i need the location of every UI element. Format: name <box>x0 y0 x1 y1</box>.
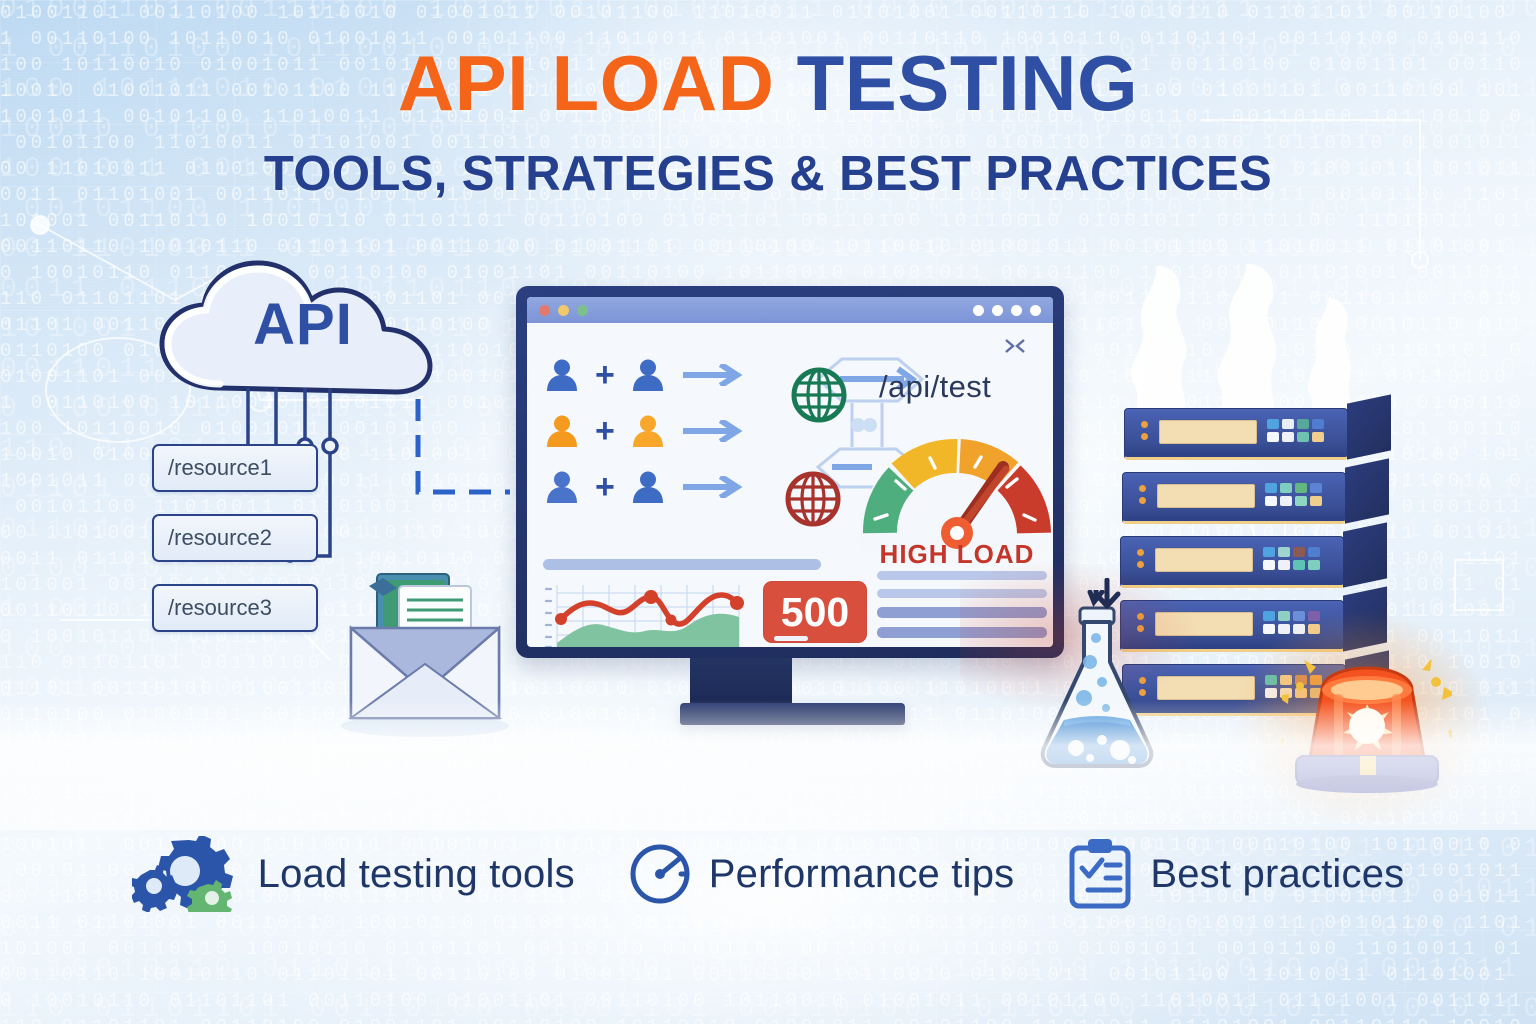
divider-bar <box>543 559 821 570</box>
user-icon <box>545 470 579 504</box>
server-label-plate <box>1155 548 1253 572</box>
monitor-screen: + + <box>527 297 1053 647</box>
log-lines-placeholder <box>877 571 1047 647</box>
window-titlebar <box>527 297 1053 323</box>
user-icon <box>631 414 665 448</box>
server-led-grid <box>1263 611 1320 634</box>
plus-icon: + <box>595 414 615 448</box>
virtual-user-row: + <box>545 403 745 459</box>
minimize-dot-icon[interactable] <box>558 305 569 316</box>
server-side-panel <box>1343 522 1387 587</box>
server-label-plate <box>1159 420 1257 444</box>
resource-item-1[interactable]: /resource1 <box>152 444 318 492</box>
server-led-grid <box>1265 483 1322 506</box>
indicator-dot-icon <box>1011 305 1022 316</box>
server-unit <box>1124 408 1348 460</box>
feature-label: Best practices <box>1150 852 1404 897</box>
globe-green-icon <box>791 367 847 423</box>
virtual-user-row: + <box>545 347 745 403</box>
feature-label: Performance tips <box>709 852 1015 897</box>
feature-item-performance-tips[interactable]: Performance tips <box>629 843 1015 905</box>
log-line <box>877 589 1047 598</box>
api-cloud: API <box>148 258 458 398</box>
indicator-dot-icon <box>992 305 1003 316</box>
server-side-panel <box>1343 586 1387 651</box>
speedometer-icon <box>629 843 691 905</box>
page-title: API LOAD TESTING <box>0 44 1536 122</box>
resource-item-2[interactable]: /resource2 <box>152 514 318 562</box>
server-unit <box>1122 472 1346 524</box>
server-side-panel <box>1347 394 1391 459</box>
user-icon <box>545 414 579 448</box>
virtual-users-group: + + <box>545 347 745 515</box>
plus-icon: + <box>595 358 615 392</box>
maximize-dot-icon[interactable] <box>577 305 588 316</box>
server-status-dots <box>1137 549 1144 573</box>
user-icon <box>631 358 665 392</box>
log-line <box>877 571 1047 580</box>
dashboard-body: + + <box>527 323 1053 647</box>
down-arrow-icon <box>1092 578 1122 612</box>
user-icon <box>545 358 579 392</box>
cloud-label: API <box>148 258 458 398</box>
server-side-panel <box>1345 458 1389 523</box>
resource-label: /resource1 <box>168 455 272 481</box>
feature-item-load-testing-tools[interactable]: Load testing tools <box>132 836 575 912</box>
virtual-user-row: + <box>545 459 745 515</box>
resource-label: /resource2 <box>168 525 272 551</box>
performance-chart <box>543 581 751 647</box>
page-subtitle: TOOLS, STRATEGIES & BEST PRACTICES <box>0 146 1536 202</box>
feature-row: Load testing tools Performance tips Best… <box>0 836 1536 912</box>
monitor-power-led <box>774 636 808 641</box>
server-led-grid <box>1263 547 1320 570</box>
gears-icon <box>132 836 240 912</box>
arrow-right-icon <box>683 364 745 386</box>
indicator-dot-icon <box>973 305 984 316</box>
arrow-right-icon <box>683 476 745 498</box>
monitor-neck <box>690 658 792 706</box>
server-label-plate <box>1157 484 1255 508</box>
gauge-status-label: HIGH LOAD <box>857 539 1053 570</box>
poster-canvas: 01001101 00110100 10110010 01001011 0010… <box>0 0 1536 1024</box>
user-icon <box>631 470 665 504</box>
close-dot-icon[interactable] <box>539 305 550 316</box>
title-part-blue: TESTING <box>797 39 1139 127</box>
clipboard-check-icon <box>1068 838 1132 910</box>
monitor-frame: + + <box>516 286 1064 658</box>
shuffle-icon <box>1005 337 1025 355</box>
endpoint-label: /api/test <box>879 369 991 405</box>
hero-title-block: API LOAD TESTING TOOLS, STRATEGIES & BES… <box>0 44 1536 202</box>
globe-red-icon <box>785 471 841 527</box>
log-line <box>877 607 1047 618</box>
window-control-dots[interactable] <box>539 305 588 316</box>
server-unit <box>1120 536 1344 588</box>
desk-surface <box>0 700 1536 830</box>
plus-icon: + <box>595 470 615 504</box>
server-led-grid <box>1267 419 1324 442</box>
feature-item-best-practices[interactable]: Best practices <box>1068 838 1404 910</box>
title-part-orange: API LOAD <box>398 39 775 127</box>
indicator-dot-icon <box>1030 305 1041 316</box>
server-status-dots <box>1141 421 1148 445</box>
log-line <box>877 627 1047 638</box>
status-badge: 500 <box>763 581 867 643</box>
server-status-dots <box>1139 485 1146 509</box>
line-area-chart <box>543 581 751 647</box>
arrow-right-icon <box>683 420 745 442</box>
resource-item-3[interactable]: /resource3 <box>152 584 318 632</box>
resource-label: /resource3 <box>168 595 272 621</box>
feature-label: Load testing tools <box>258 852 575 897</box>
status-indicator-dots <box>973 305 1041 316</box>
